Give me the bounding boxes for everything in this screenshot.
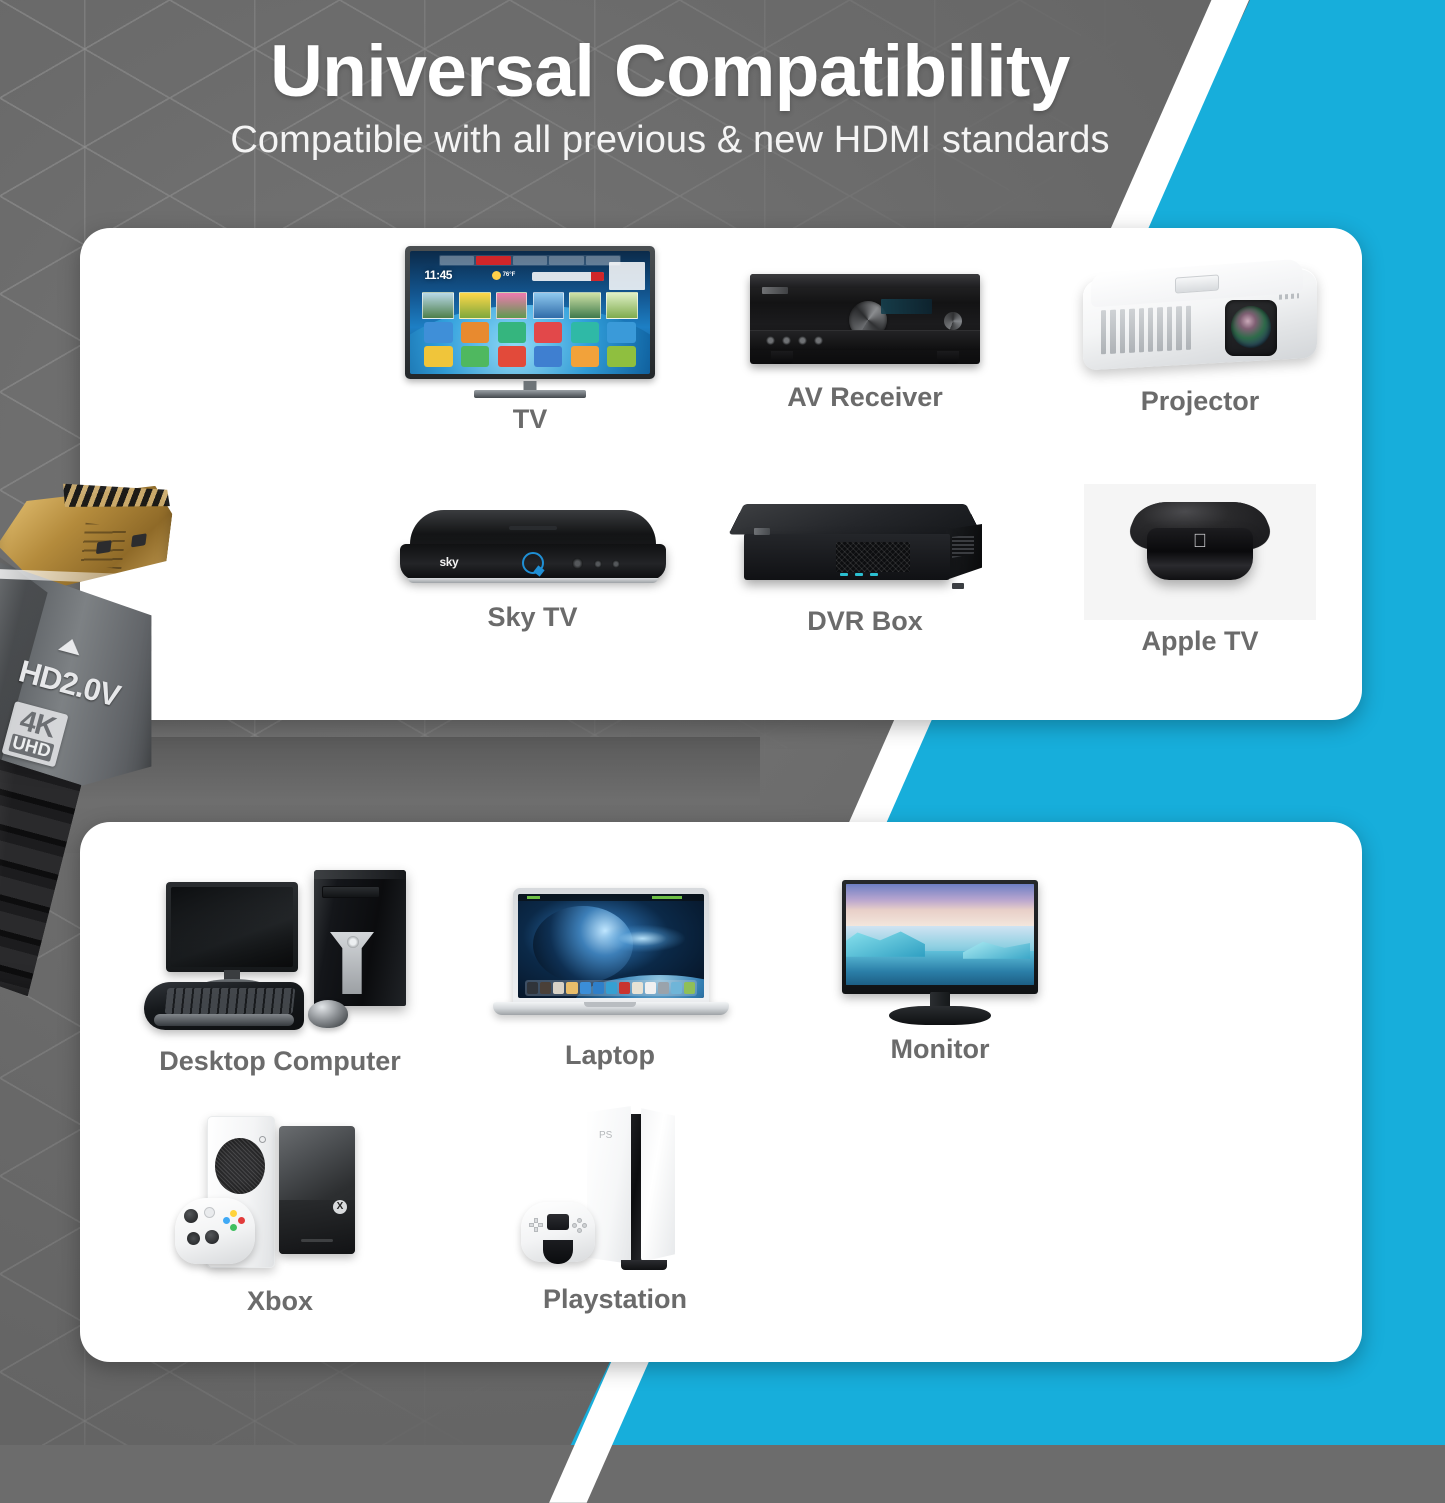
desktop-computer-icon bbox=[130, 864, 430, 1040]
device-cell-projector[interactable]: Projector bbox=[1065, 260, 1335, 417]
projector-icon bbox=[1065, 260, 1335, 380]
device-cell-desktop-computer[interactable]: Desktop Computer bbox=[130, 864, 430, 1077]
device-label: Desktop Computer bbox=[130, 1046, 430, 1077]
apple-tv-icon:  bbox=[1080, 484, 1320, 620]
device-cell-playstation[interactable]: PS Playstation bbox=[510, 1106, 720, 1315]
playstation-logo-icon: PS bbox=[599, 1130, 612, 1141]
computing-devices-panel: Desktop Computer bbox=[80, 822, 1362, 1362]
playstation-console-icon: PS bbox=[510, 1106, 720, 1278]
tv-screen-clock: 11:45 bbox=[424, 268, 452, 282]
device-label: TV bbox=[400, 404, 660, 435]
tv-screen-temperature: 76°F bbox=[503, 272, 516, 278]
television-icon: 11:45 76°F bbox=[400, 246, 660, 398]
device-label: Laptop bbox=[480, 1040, 740, 1071]
device-cell-tv[interactable]: 11:45 76°F bbox=[400, 246, 660, 435]
laptop-icon bbox=[480, 882, 740, 1034]
xbox-logo-icon: X bbox=[333, 1200, 347, 1214]
av-devices-panel: 11:45 76°F bbox=[80, 228, 1362, 720]
device-label: DVR Box bbox=[740, 606, 990, 637]
device-cell-dvr-box[interactable]: DVR Box bbox=[740, 500, 990, 637]
device-label: Projector bbox=[1065, 386, 1335, 417]
device-cell-monitor[interactable]: Monitor bbox=[815, 880, 1065, 1065]
av-receiver-icon bbox=[740, 268, 990, 376]
device-label: Xbox bbox=[170, 1286, 390, 1317]
page-subtitle: Compatible with all previous & new HDMI … bbox=[0, 119, 1340, 162]
device-label: Sky TV bbox=[395, 602, 670, 633]
sky-tv-box-icon: sky bbox=[395, 508, 670, 596]
device-cell-xbox[interactable]: X Xbox bbox=[170, 1112, 390, 1317]
device-label: Playstation bbox=[510, 1284, 720, 1315]
device-cell-laptop[interactable]: Laptop bbox=[480, 882, 740, 1071]
xbox-console-icon: X bbox=[170, 1112, 390, 1280]
device-cell-sky-tv[interactable]: sky Sky TV bbox=[395, 508, 670, 633]
header: Universal Compatibility Compatible with … bbox=[0, 0, 1340, 162]
device-cell-apple-tv[interactable]:  Apple TV bbox=[1080, 484, 1320, 657]
device-label: Apple TV bbox=[1080, 626, 1320, 657]
device-cell-av-receiver[interactable]: AV Receiver bbox=[740, 268, 990, 413]
monitor-icon bbox=[815, 880, 1065, 1028]
dvr-box-icon bbox=[740, 500, 990, 600]
page-title: Universal Compatibility bbox=[0, 34, 1340, 111]
device-label: Monitor bbox=[815, 1034, 1065, 1065]
av-devices-grid: 11:45 76°F bbox=[80, 228, 1362, 720]
sky-brand-text: sky bbox=[440, 555, 459, 569]
computing-devices-grid: Desktop Computer bbox=[80, 822, 1362, 1362]
apple-logo-icon:  bbox=[1193, 532, 1207, 551]
device-label: AV Receiver bbox=[740, 382, 990, 413]
sky-q-logo-icon bbox=[522, 552, 544, 574]
